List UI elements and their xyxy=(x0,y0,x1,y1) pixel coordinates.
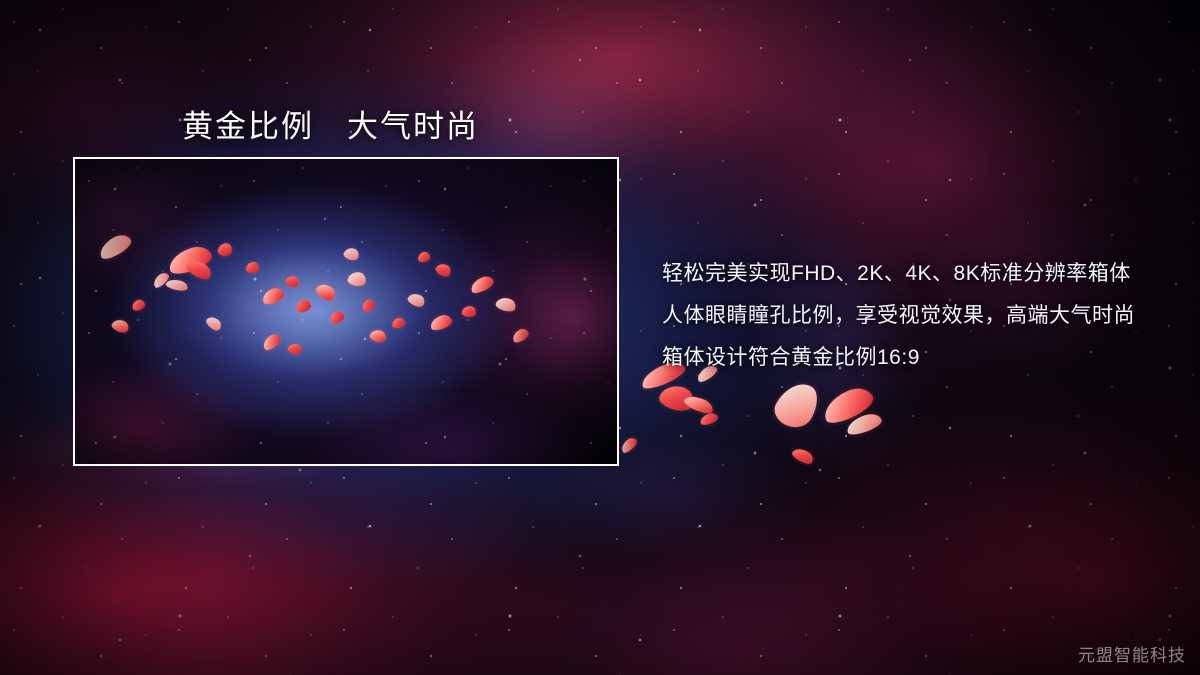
slide-title: 黄金比例 大气时尚 xyxy=(182,101,479,146)
framed-image-vignette xyxy=(75,159,617,464)
body-paragraph: 轻松完美实现FHD、2K、4K、8K标准分辨率箱体 人体眼睛瞳孔比例，享受视觉效… xyxy=(662,253,1135,379)
photo-frame xyxy=(73,157,619,466)
watermark-label: 元盟智能科技 xyxy=(1078,641,1186,666)
petal-icon xyxy=(790,445,815,466)
petal-icon xyxy=(699,412,719,427)
presentation-slide: 黄金比例 大气时尚 轻松完美实现FHD、2K、4K、8K标准分辨率箱体 人体眼睛… xyxy=(0,0,1200,675)
petal-icon xyxy=(769,376,824,434)
petal-icon xyxy=(619,435,639,454)
photo-frame-content xyxy=(75,159,617,464)
